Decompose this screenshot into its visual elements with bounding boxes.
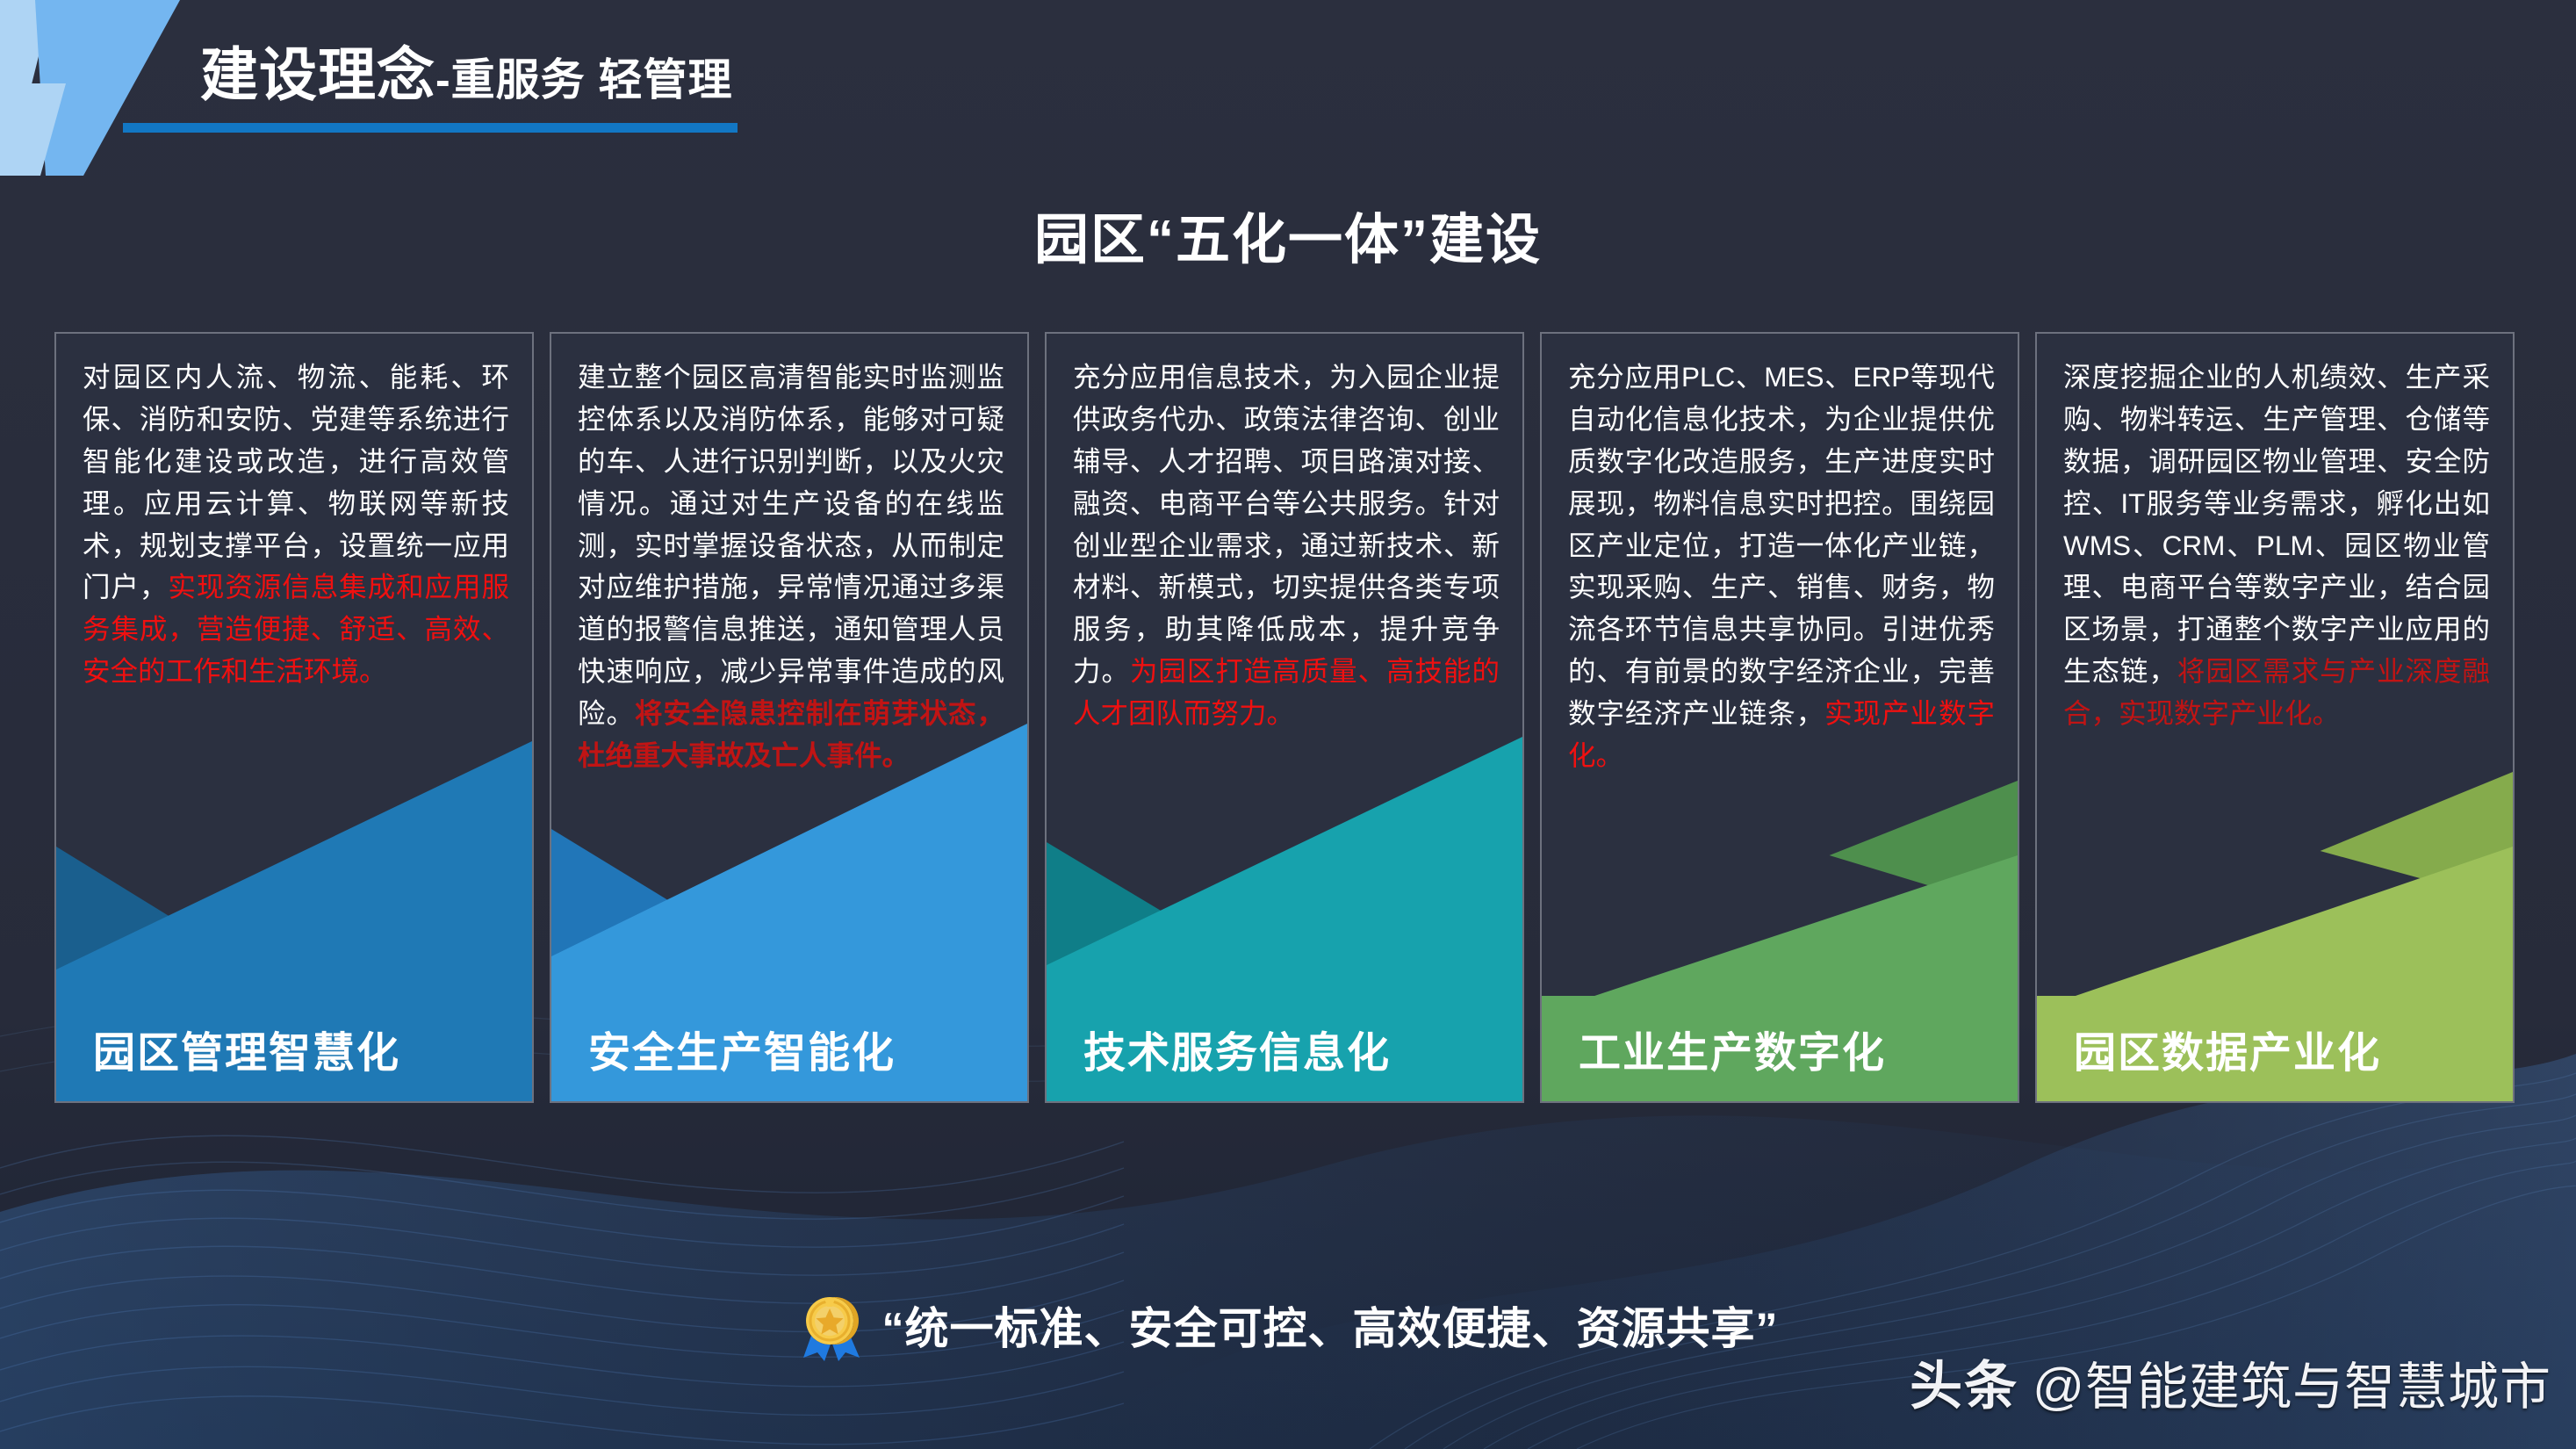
section-title: 园区“五化一体”建设 — [0, 195, 2576, 274]
card-label: 工业生产数字化 — [1542, 996, 2018, 1101]
card-body-text: 对园区内人流、物流、能耗、环保、消防和安防、党建等系统进行智能化建设或改造，进行… — [83, 357, 509, 693]
header-underline — [123, 123, 738, 133]
watermark-logo: 头条 — [1910, 1344, 2018, 1420]
card-body-plain: 充分应用PLC、MES、ERP等现代自动化信息化技术，为企业提供优质数字化改造服… — [1568, 361, 1995, 729]
card-park-management[interactable]: 对园区内人流、物流、能耗、环保、消防和安防、党建等系统进行智能化建设或改造，进行… — [54, 332, 534, 1103]
card-body-text: 建立整个园区高清智能实时监测监控体系以及消防体系，能够对可疑的车、人进行识别判断… — [578, 357, 1004, 777]
card-body-text: 充分应用PLC、MES、ERP等现代自动化信息化技术，为企业提供优质数字化改造服… — [1568, 357, 1995, 777]
watermark-handle: @智能建筑与智慧城市 — [2033, 1345, 2551, 1419]
page-title: 建设理念-重服务 轻管理 — [200, 28, 733, 112]
medal-icon — [798, 1287, 867, 1363]
card-safe-production[interactable]: 建立整个园区高清智能实时监测监控体系以及消防体系，能够对可疑的车、人进行识别判断… — [550, 332, 1029, 1103]
card-body-plain: 充分应用信息技术，为入园企业提供政务代办、政策法律咨询、创业辅导、人才招聘、项目… — [1073, 361, 1500, 687]
cards-container: 对园区内人流、物流、能耗、环保、消防和安防、党建等系统进行智能化建设或改造，进行… — [54, 332, 2522, 1103]
card-park-data-industry[interactable]: 深度挖掘企业的人机绩效、生产采购、物料转运、生产管理、仓储等数据，调研园区物业管… — [2035, 332, 2515, 1103]
card-tech-service[interactable]: 充分应用信息技术，为入园企业提供政务代办、政策法律咨询、创业辅导、人才招聘、项目… — [1045, 332, 1524, 1103]
card-body-emphasis: 为园区打造高质量、高技能的人才团队而努力。 — [1073, 655, 1500, 729]
card-label: 安全生产智能化 — [551, 996, 1027, 1101]
watermark: 头条 @智能建筑与智慧城市 — [1910, 1344, 2551, 1420]
card-body-plain: 建立整个园区高清智能实时监测监控体系以及消防体系，能够对可疑的车、人进行识别判断… — [578, 361, 1004, 729]
page-title-sub: -重服务 轻管理 — [435, 55, 733, 105]
card-industrial-digital[interactable]: 充分应用PLC、MES、ERP等现代自动化信息化技术，为企业提供优质数字化改造服… — [1540, 332, 2019, 1103]
card-body-text: 深度挖掘企业的人机绩效、生产采购、物料转运、生产管理、仓储等数据，调研园区物业管… — [2063, 357, 2490, 735]
card-body-emphasis: 将安全隐患控制在萌芽状态，杜绝重大事故及亡人事件。 — [578, 697, 1004, 771]
card-label: 园区数据产业化 — [2037, 996, 2513, 1101]
card-label: 园区管理智慧化 — [56, 996, 532, 1101]
card-body-plain: 深度挖掘企业的人机绩效、生产采购、物料转运、生产管理、仓储等数据，调研园区物业管… — [2063, 361, 2490, 687]
slogan-text: “统一标准、安全可控、高效便捷、资源共享” — [882, 1294, 1779, 1357]
card-body-plain: 对园区内人流、物流、能耗、环保、消防和安防、党建等系统进行智能化建设或改造，进行… — [83, 361, 509, 602]
card-label: 技术服务信息化 — [1047, 996, 1522, 1101]
page-header: 建设理念-重服务 轻管理 — [0, 0, 2576, 176]
page-title-main: 建设理念 — [200, 42, 435, 107]
card-body-text: 充分应用信息技术，为入园企业提供政务代办、政策法律咨询、创业辅导、人才招聘、项目… — [1073, 357, 1500, 735]
